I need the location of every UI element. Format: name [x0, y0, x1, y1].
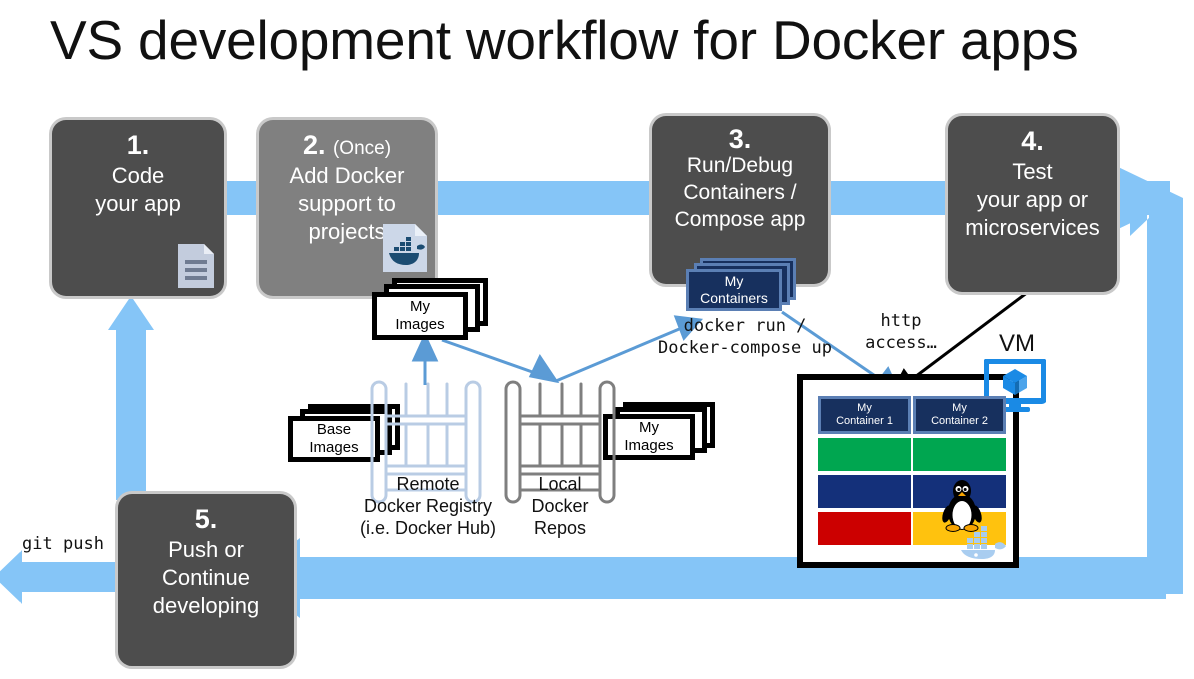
step-1-number: 1. [127, 130, 150, 160]
step-5-push-continue[interactable]: 5. Push or Continue developing [118, 494, 294, 666]
http-access-label: http access… [856, 310, 946, 354]
vm-container-2-label: My Container 2 [931, 402, 988, 428]
my-images-local-label: My Images [624, 419, 673, 456]
my-containers-stack: My Containers [686, 258, 798, 318]
vm-container-1-header: My Container 1 [818, 396, 911, 434]
my-containers-label: My Containers [700, 273, 768, 306]
my-images-top-label: My Images [395, 298, 444, 335]
step-2-number: 2. (Once) [303, 130, 391, 160]
vm-container-1-tile-navy [818, 475, 911, 508]
step-5-number: 5. [195, 504, 218, 534]
step-2-add-docker-support[interactable]: 2. (Once) Add Docker support to projects [259, 120, 435, 296]
step-3-number: 3. [729, 126, 752, 153]
docker-run-label: docker run / Docker-compose up [650, 315, 840, 359]
vm-container-1-label: My Container 1 [836, 402, 893, 428]
vm-label: VM [999, 330, 1035, 358]
base-images-label: Base Images [309, 421, 358, 458]
vm-container-2-header: My Container 2 [913, 396, 1006, 434]
vm-container-1-tile-green [818, 438, 911, 471]
document-icon [176, 242, 216, 290]
my-containers-front: My Containers [686, 269, 782, 311]
step-2-once-label: (Once) [333, 138, 391, 159]
step-5-label: Push or Continue developing [153, 536, 259, 619]
vm-container-2-tile-green [913, 438, 1006, 471]
step-3-label: Run/Debug Containers / Compose app [675, 153, 806, 234]
step-2-number-text: 2. [303, 130, 326, 160]
step-4-test[interactable]: 4. Test your app or microservices [948, 116, 1117, 292]
local-repos-label: Local Docker Repos [504, 474, 616, 540]
step-4-label: Test your app or microservices [965, 158, 1099, 241]
git-push-label: git push [8, 533, 118, 555]
vm-container-1: My Container 1 [818, 396, 911, 544]
step-4-number: 4. [1021, 126, 1044, 156]
my-images-top-stack: My Images [372, 278, 488, 344]
step-1-label: Code your app [95, 162, 181, 217]
remote-registry-label: Remote Docker Registry (i.e. Docker Hub) [352, 474, 504, 540]
step-1-code[interactable]: 1. Code your app [52, 120, 224, 296]
diagram-canvas: VS development workflow for Docker apps [0, 0, 1194, 679]
dockerfile-icon [381, 222, 429, 274]
vm-container-1-tile-red [818, 512, 911, 545]
docker-whale-icon [955, 524, 1013, 560]
my-images-top-front: My Images [372, 292, 468, 340]
